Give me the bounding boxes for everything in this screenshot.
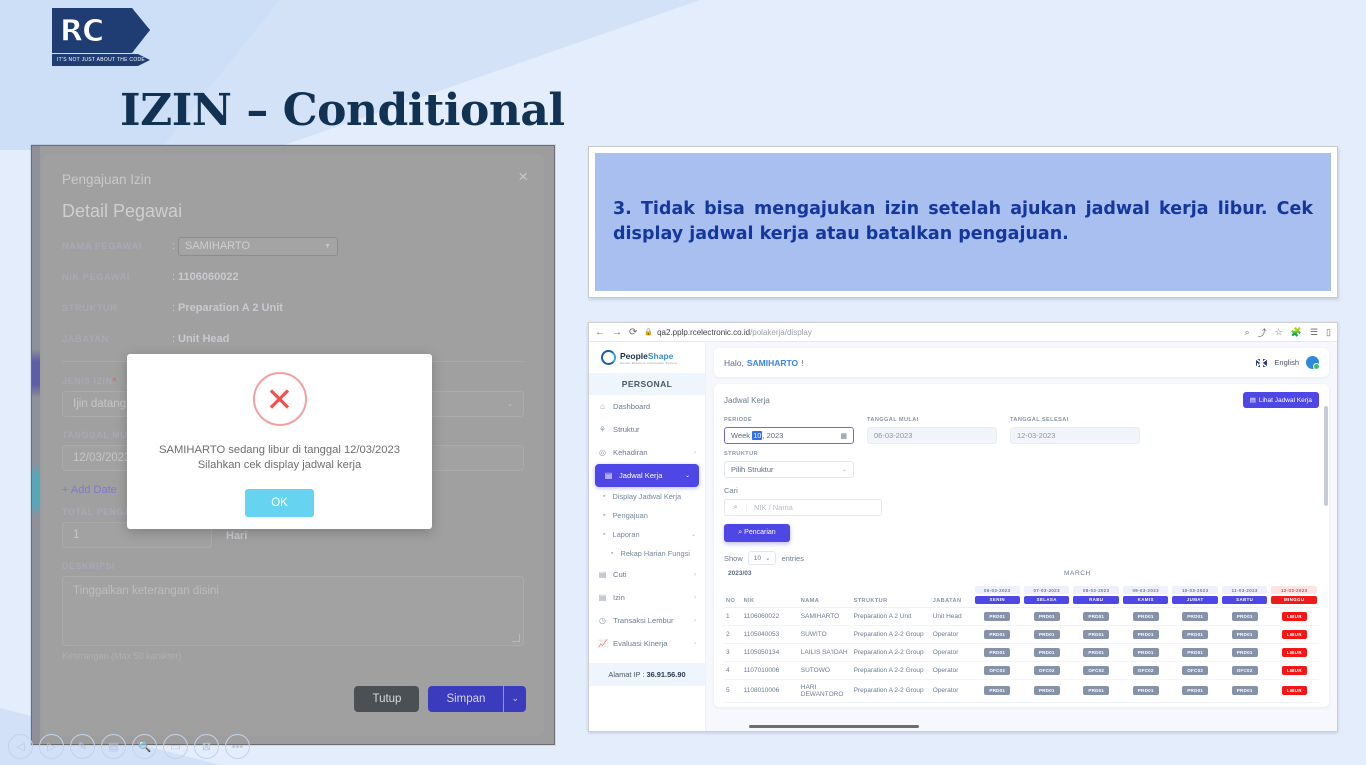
- cell-jabatan: Operator: [931, 643, 973, 661]
- chevron-right-icon: ›: [694, 618, 696, 624]
- cell-no: 3: [724, 643, 742, 661]
- col-nama: NAMA: [799, 583, 852, 607]
- cell-shift: LIBUR: [1269, 625, 1319, 643]
- extensions-puzzle-icon[interactable]: 🧩: [1291, 327, 1302, 338]
- card-title: Jadwal Kerja: [724, 396, 770, 405]
- lock-icon: 🔒: [644, 328, 653, 336]
- previous-slide-icon[interactable]: ◁: [8, 734, 33, 759]
- field-nama-pegawai: NAMA PEGAWAI : SAMIHARTO ▼: [62, 236, 524, 256]
- bullet-icon: ▪: [603, 493, 605, 500]
- chevron-right-icon: ›: [694, 572, 696, 578]
- day-date: 10-03-2023: [1172, 586, 1217, 594]
- address-bar[interactable]: 🔒 qa2.pplp.rcelectronic.co.id/polakerja/…: [644, 328, 1237, 337]
- shift-badge: PRD01: [984, 686, 1010, 695]
- cell-jabatan: Unit Head: [931, 607, 973, 625]
- cell-shift: OFC02: [1071, 661, 1120, 679]
- cell-shift: LIBUR: [1269, 661, 1319, 679]
- shift-badge: PRD01: [1133, 630, 1159, 639]
- nik-pegawai-value: 1106060022: [178, 271, 239, 283]
- shift-badge: PRD01: [984, 612, 1010, 621]
- table-row: 3 1105050134 LAILIS SA'IDAH Preparation …: [724, 643, 1319, 661]
- month-name-label: MARCH: [1064, 570, 1091, 577]
- search-icon[interactable]: ⌕: [1245, 327, 1250, 338]
- search-icon: ⌕: [738, 529, 742, 536]
- company-logo: RC IT'S NOT JUST ABOUT THE CODE: [52, 8, 162, 68]
- periode-value: Week 10, 2023: [731, 431, 783, 440]
- shift-badge-libur: LIBUR: [1282, 648, 1307, 657]
- cell-struktur: Preparation A 2-2 Group: [852, 661, 931, 679]
- app-viewport: PeopleShape Human Resource Information S…: [589, 342, 1337, 732]
- shift-badge: OFC02: [1133, 666, 1159, 675]
- shift-badge: PRD01: [1034, 630, 1060, 639]
- sidebar-item-label: Struktur: [613, 425, 640, 434]
- pencarian-button[interactable]: ⌕ Pencarian: [724, 524, 790, 542]
- cell-nama: SUWITO: [799, 625, 852, 643]
- shift-badge: PRD01: [1133, 612, 1159, 621]
- next-slide-icon[interactable]: ▷: [39, 734, 64, 759]
- lihat-jadwal-kerja-label: Lihat Jadwal Kerja: [1259, 397, 1312, 404]
- cell-nama: SAMIHARTO: [799, 607, 852, 625]
- sidebar-item-izin[interactable]: ▤ Izin ›: [589, 586, 705, 609]
- bullet-icon: ▪: [603, 531, 605, 538]
- shift-badge: OFC02: [1034, 666, 1060, 675]
- cell-no: 4: [724, 661, 742, 679]
- cell-struktur: Preparation A 2-2 Group: [852, 679, 931, 702]
- calendar-check-icon: ▤: [1250, 396, 1256, 404]
- cell-shift: PRD01: [1071, 679, 1120, 702]
- chevron-down-icon: ⌄: [765, 554, 770, 562]
- sidebar-item-kehadiran[interactable]: ◎ Kehadiran ›: [589, 441, 705, 464]
- year-month-label: 2023/03: [728, 570, 752, 577]
- page-title: IZIN – Conditional: [120, 85, 565, 136]
- cell-nama: SUTOWO: [799, 661, 852, 679]
- tanggal-selesai-group: TANGGAL SELESAI 12-03-2023: [1010, 417, 1140, 444]
- jadwal-kerja-card: Jadwal Kerja ▤ Lihat Jadwal Kerja PERIOD…: [714, 384, 1329, 707]
- cell-shift: PRD01: [1121, 643, 1170, 661]
- calendar-picker-icon[interactable]: ▦: [840, 432, 847, 440]
- shift-badge: PRD01: [1034, 648, 1060, 657]
- col-day-3: 09-03-2023 KAMIS: [1121, 583, 1170, 607]
- shift-badge: PRD01: [1083, 630, 1109, 639]
- cell-nik: 1106060022: [742, 607, 799, 625]
- cell-nik: 1107010006: [742, 661, 799, 679]
- sidebar-item-label: Jadwal Kerja: [619, 471, 662, 480]
- cell-shift: PRD01: [973, 679, 1022, 702]
- field-label: NIK PEGAWAI: [62, 272, 172, 283]
- shift-badge: PRD01: [1232, 630, 1258, 639]
- nama-pegawai-value: SAMIHARTO: [185, 240, 250, 252]
- cell-shift: PRD01: [1170, 679, 1219, 702]
- cell-jabatan: Operator: [931, 679, 973, 702]
- uk-flag-icon: [1256, 359, 1267, 367]
- sidebar-item-label: Laporan: [612, 530, 639, 539]
- url-host: qa2.pplp.rcelectronic.co.id: [657, 328, 750, 337]
- card-header: Jadwal Kerja ▤ Lihat Jadwal Kerja: [724, 392, 1319, 408]
- dialog-header: Pengajuan Izin ×: [42, 154, 544, 187]
- entries-value: 10: [754, 555, 761, 562]
- col-nik: NIK: [742, 583, 799, 607]
- jenis-izin-label-text: JENIS IZIN: [62, 376, 113, 386]
- chevron-down-icon[interactable]: ⌄: [503, 686, 526, 712]
- alert-message: SAMIHARTO sedang libur di tanggal 12/03/…: [144, 443, 416, 473]
- total-pengajuan-unit: Hari: [226, 530, 247, 542]
- sidebar-item-laporan[interactable]: ▪ Laporan ⌄: [589, 525, 705, 544]
- table-body: 1 1106060022 SAMIHARTO Preparation A 2 U…: [724, 607, 1319, 702]
- tanggal-mulai-group: TANGGAL MULAI 06-03-2023: [867, 417, 997, 444]
- back-icon[interactable]: ←: [595, 327, 605, 338]
- cell-shift: PRD01: [1170, 625, 1219, 643]
- cell-jabatan: Operator: [931, 661, 973, 679]
- cell-shift: OFC02: [1220, 661, 1269, 679]
- col-day-5: 11-03-2023 SABTU: [1220, 583, 1269, 607]
- language-label[interactable]: English: [1274, 358, 1299, 367]
- day-date: 08-03-2023: [1073, 586, 1118, 594]
- sidebar-item-label: Dashboard: [613, 402, 650, 411]
- app-logo-text-2: Shape: [648, 351, 674, 361]
- ip-separator: :: [642, 670, 644, 679]
- greeting-card: Halo, SAMIHARTO ! English: [714, 348, 1329, 377]
- deskripsi-hint: Keterangan (Max 50 karakter): [62, 651, 524, 661]
- cell-shift: PRD01: [1121, 679, 1170, 702]
- cell-shift: PRD01: [1071, 625, 1120, 643]
- alert-ok-button[interactable]: OK: [245, 489, 314, 517]
- tanggal-selesai-label: TANGGAL SELESAI: [1010, 417, 1140, 423]
- url-text: qa2.pplp.rcelectronic.co.id/polakerja/di…: [657, 328, 812, 337]
- entries-label: entries: [781, 554, 804, 563]
- cell-shift: PRD01: [1170, 607, 1219, 625]
- sidebar-item-pengajuan[interactable]: ▪ Pengajuan: [589, 506, 705, 525]
- tanggal-mulai-value: 06-03-2023: [874, 431, 912, 440]
- shift-badge: OFC02: [1182, 666, 1208, 675]
- day-name: SELASA: [1024, 596, 1069, 604]
- app-logo-text-1: People: [620, 351, 648, 361]
- home-icon: ⌂: [598, 402, 607, 411]
- callout-text: 3. Tidak bisa mengajukan izin setelah aj…: [613, 197, 1313, 247]
- background-app-sidebar-strip: [32, 146, 40, 744]
- share-icon[interactable]: ⤴: [1258, 326, 1267, 339]
- reading-list-icon[interactable]: ☰: [1310, 327, 1318, 338]
- day-date: 12-03-2023: [1271, 586, 1317, 594]
- table-header-row: NO NIK NAMA STRUKTUR JABATAN 06-03-2023 …: [724, 583, 1319, 607]
- cari-label: Cari: [724, 486, 1319, 495]
- peopleshape-mark-icon: [601, 350, 616, 365]
- greeting-row: Halo, SAMIHARTO ! English: [724, 356, 1319, 369]
- col-day-1: 07-03-2023 SELASA: [1022, 583, 1071, 607]
- cell-struktur: Preparation A 2-2 Group: [852, 643, 931, 661]
- col-no: NO: [724, 583, 742, 607]
- app-logo-text: PeopleShape Human Resource Information S…: [620, 351, 677, 365]
- sidebar-item-jadwal-kerja[interactable]: ▤ Jadwal Kerja ⌄: [595, 464, 699, 487]
- tutup-button[interactable]: Tutup: [354, 686, 419, 712]
- shift-badge: PRD01: [1232, 648, 1258, 657]
- cell-no: 1: [724, 607, 742, 625]
- cell-shift: LIBUR: [1269, 607, 1319, 625]
- cell-shift: PRD01: [1121, 607, 1170, 625]
- shift-badge: PRD01: [1232, 686, 1258, 695]
- cell-nik: 1108010006: [742, 679, 799, 702]
- periode-suffix: , 2023: [762, 431, 783, 440]
- logo-tagline: IT'S NOT JUST ABOUT THE CODE: [52, 54, 150, 66]
- chevron-down-icon: ⌄: [691, 531, 696, 538]
- chevron-right-icon: ›: [694, 450, 696, 456]
- sidebar-item-transaksi-lembur[interactable]: ◷ Transaksi Lembur ›: [589, 609, 705, 632]
- cell-nik: 1105050134: [742, 643, 799, 661]
- zoom-icon[interactable]: 🔍: [132, 734, 157, 759]
- horizontal-scrollbar[interactable]: [749, 725, 1334, 729]
- sidebar-item-label: Kehadiran: [613, 448, 648, 457]
- briefcase-icon: ▤: [604, 471, 613, 480]
- app-logo-subtitle: Human Resource Information System: [620, 361, 677, 365]
- cell-shift: PRD01: [1220, 625, 1269, 643]
- day-name: KAMIS: [1123, 596, 1168, 604]
- field-struktur: STRUKTUR : Preparation A 2 Unit: [62, 298, 524, 318]
- field-nik-pegawai: NIK PEGAWAI : 1106060022: [62, 267, 524, 287]
- shift-badge-libur: LIBUR: [1282, 630, 1307, 639]
- chevron-right-icon: ›: [694, 641, 696, 647]
- shift-badge: PRD01: [1083, 612, 1109, 621]
- cell-no: 2: [724, 625, 742, 643]
- shift-badge: PRD01: [1182, 686, 1208, 695]
- greeting-user: SAMIHARTO: [747, 358, 798, 368]
- shift-badge: PRD01: [1083, 686, 1109, 695]
- ip-value: 36.91.56.90: [647, 670, 686, 679]
- struktur-group: STRUKTUR Pilih Struktur ⌄: [724, 451, 854, 478]
- chevron-down-icon: ⌄: [685, 472, 690, 479]
- day-name: JUMAT: [1172, 596, 1217, 604]
- forward-icon[interactable]: →: [612, 327, 622, 338]
- sidebar-item-dashboard[interactable]: ⌂ Dashboard: [589, 395, 705, 418]
- shift-badge: PRD01: [1182, 630, 1208, 639]
- logo-shape: RC: [52, 8, 150, 53]
- entries-select[interactable]: 10 ⌄: [748, 551, 777, 565]
- cell-struktur: Preparation A 2-2 Group: [852, 625, 931, 643]
- pen-icon[interactable]: ✎: [70, 734, 95, 759]
- cell-shift: PRD01: [1071, 643, 1120, 661]
- jabatan-value: Unit Head: [178, 333, 229, 345]
- close-icon[interactable]: ×: [518, 168, 528, 185]
- subtitle-icon[interactable]: ▭: [163, 734, 188, 759]
- sidebar-item-struktur[interactable]: ⚘ Struktur: [589, 418, 705, 441]
- cari-placeholder: NIK / Nama: [747, 503, 793, 512]
- col-day-6: 12-03-2023 MINGGU: [1269, 583, 1319, 607]
- cari-input[interactable]: ⌕ NIK / Nama: [724, 499, 882, 516]
- chevron-down-icon: ▼: [324, 243, 331, 250]
- sidebar-item-evaluasi-kinerja[interactable]: 📈 Evaluasi Kinerja ›: [589, 632, 705, 655]
- dialog-footer: Tutup Simpan ⌄: [354, 686, 526, 712]
- bookmark-star-icon[interactable]: ☆: [1275, 327, 1283, 338]
- struktur-label: STRUKTUR: [724, 451, 854, 457]
- left-screenshot: Pengajuan Izin × Detail Pegawai NAMA PEG…: [31, 145, 555, 745]
- shift-badge-libur: LIBUR: [1282, 686, 1307, 695]
- day-date: 11-03-2023: [1222, 586, 1267, 594]
- calendar-icon: ▤: [598, 570, 607, 579]
- avatar[interactable]: [1306, 356, 1319, 369]
- search-icon: ⌕: [725, 504, 747, 512]
- shift-badge: OFC02: [1232, 666, 1258, 675]
- cell-shift: OFC02: [973, 661, 1022, 679]
- tanggal-selesai-input: 12-03-2023: [1010, 427, 1140, 444]
- sidebar-item-label: Cuti: [613, 570, 627, 579]
- cell-shift: LIBUR: [1269, 643, 1319, 661]
- shift-badge: PRD01: [1034, 612, 1060, 621]
- cell-shift: OFC02: [1121, 661, 1170, 679]
- table-head: NO NIK NAMA STRUKTUR JABATAN 06-03-2023 …: [724, 583, 1319, 607]
- sidebar-section-personal: PERSONAL: [589, 373, 705, 395]
- cell-shift: PRD01: [1170, 643, 1219, 661]
- table-row: 4 1107010006 SUTOWO Preparation A 2-2 Gr…: [724, 661, 1319, 679]
- table-row: 2 1105040053 SUWITO Preparation A 2-2 Gr…: [724, 625, 1319, 643]
- day-name: MINGGU: [1271, 596, 1317, 604]
- clock-icon: ◷: [598, 616, 607, 625]
- schedule-table: NO NIK NAMA STRUKTUR JABATAN 06-03-2023 …: [724, 583, 1319, 703]
- col-day-0: 06-03-2023 SENIN: [973, 583, 1022, 607]
- schedule-period-row: 2023/03 MARCH: [724, 570, 1319, 581]
- holiday-alert-dialog: ✕ SAMIHARTO sedang libur di tanggal 12/0…: [127, 354, 432, 529]
- cell-shift: PRD01: [1022, 625, 1071, 643]
- tanggal-selesai-value: 12-03-2023: [1017, 431, 1055, 440]
- logo-initials: RC: [60, 14, 132, 51]
- deskripsi-textarea[interactable]: Tinggalkan keterangan disini: [62, 576, 524, 646]
- table-row: 5 1108010006 HARI DEWANTORO Preparation …: [724, 679, 1319, 702]
- chevron-down-icon: ⌄: [842, 466, 847, 473]
- pencarian-label: Pencarian: [744, 529, 776, 536]
- day-date: 06-03-2023: [975, 586, 1020, 594]
- greeting-actions: English: [1256, 356, 1319, 369]
- field-label: NAMA PEGAWAI: [62, 241, 172, 252]
- cell-shift: PRD01: [1022, 643, 1071, 661]
- cell-shift: OFC02: [1022, 661, 1071, 679]
- reload-icon[interactable]: ⟳: [629, 327, 637, 338]
- cell-struktur: Preparation A 2 Unit: [852, 607, 931, 625]
- required-mark: *: [113, 376, 117, 386]
- sidebar-item-display-jadwal-kerja[interactable]: ▪ Display Jadwal Kerja: [589, 487, 705, 506]
- day-date: 09-03-2023: [1123, 586, 1168, 594]
- show-label: Show: [724, 554, 743, 563]
- periode-prefix: Week: [731, 431, 750, 440]
- presentation-toolbar: ◁ ▷ ✎ ▤ 🔍 ▭ ⊠ •••: [8, 734, 250, 759]
- more-options-icon[interactable]: •••: [225, 734, 250, 759]
- simpan-button-group: Simpan ⌄: [428, 686, 526, 712]
- shift-badge-libur: LIBUR: [1282, 666, 1307, 675]
- periode-week-input[interactable]: Week 10, 2023 ▦: [724, 427, 854, 444]
- shift-badge: PRD01: [1182, 648, 1208, 657]
- cell-shift: PRD01: [973, 625, 1022, 643]
- browser-toolbar: ← → ⟳ 🔒 qa2.pplp.rcelectronic.co.id/pola…: [589, 323, 1337, 342]
- url-path: /polakerja/display: [750, 328, 812, 337]
- col-struktur: STRUKTUR: [852, 583, 931, 607]
- periode-group: PERIODE Week 10, 2023 ▦: [724, 417, 854, 444]
- lihat-jadwal-kerja-button[interactable]: ▤ Lihat Jadwal Kerja: [1243, 392, 1319, 408]
- dialog-title: Pengajuan Izin: [62, 172, 524, 187]
- cell-shift: PRD01: [973, 643, 1022, 661]
- cell-shift: PRD01: [1220, 643, 1269, 661]
- browser-action-icons: ⌕ ⤴ ☆ 🧩 ☰ ▯: [1245, 326, 1331, 339]
- callout-inner: 3. Tidak bisa mengajukan izin setelah aj…: [595, 153, 1331, 291]
- cell-jabatan: Operator: [931, 625, 973, 643]
- shift-badge: OFC02: [1083, 666, 1109, 675]
- sidebar-item-label: Transaksi Lembur: [613, 616, 674, 625]
- ip-address-block: Alamat IP : 36.91.56.90: [589, 663, 705, 686]
- field-label: STRUKTUR: [62, 303, 172, 314]
- col-day-2: 08-03-2023 RABU: [1071, 583, 1120, 607]
- sidebar-item-rekap-harian-fungsi[interactable]: ▪ Rekap Harian Fungsi: [589, 544, 705, 563]
- tanggal-mulai-value: 12/03/2023: [73, 452, 131, 464]
- blank-screen-icon[interactable]: ⊠: [194, 734, 219, 759]
- cell-shift: PRD01: [1220, 607, 1269, 625]
- day-name: SENIN: [975, 596, 1020, 604]
- periode-week-number: 10: [752, 431, 762, 440]
- show-entries-row: Show 10 ⌄ entries: [724, 551, 1319, 565]
- col-jabatan: JABATAN: [931, 583, 973, 607]
- nama-pegawai-select[interactable]: SAMIHARTO ▼: [178, 237, 338, 256]
- slide-grid-icon[interactable]: ▤: [101, 734, 126, 759]
- chart-icon: 📈: [598, 639, 607, 648]
- shift-badge-libur: LIBUR: [1282, 612, 1307, 621]
- cell-shift: LIBUR: [1269, 679, 1319, 702]
- cell-no: 5: [724, 679, 742, 702]
- col-day-4: 10-03-2023 JUMAT: [1170, 583, 1219, 607]
- sidebar-item-label: Display Jadwal Kerja: [612, 492, 681, 501]
- tanggal-mulai-input: 06-03-2023: [867, 427, 997, 444]
- sidebar-item-label: Rekap Harian Fungsi: [620, 549, 689, 558]
- table-row: 1 1106060022 SAMIHARTO Preparation A 2 U…: [724, 607, 1319, 625]
- profile-panel-icon[interactable]: ▯: [1326, 327, 1331, 338]
- struktur-value: Pilih Struktur: [731, 465, 774, 474]
- shift-badge: PRD01: [1133, 648, 1159, 657]
- ip-label: Alamat IP: [608, 670, 640, 679]
- detail-pegawai-heading: Detail Pegawai: [62, 201, 524, 222]
- sitemap-icon: ⚘: [598, 425, 607, 434]
- bullet-icon: ▪: [603, 512, 605, 519]
- total-pengajuan-value: 1: [73, 529, 79, 541]
- sidebar-item-cuti[interactable]: ▤ Cuti ›: [589, 563, 705, 586]
- struktur-select[interactable]: Pilih Struktur ⌄: [724, 461, 854, 478]
- callout-box: 3. Tidak bisa mengajukan izin setelah aj…: [588, 146, 1338, 298]
- greeting-prefix: Halo,: [724, 358, 744, 368]
- cell-shift: OFC02: [1170, 661, 1219, 679]
- chevron-down-icon: ⌄: [507, 400, 513, 408]
- shift-badge: PRD01: [984, 630, 1010, 639]
- chevron-right-icon: ›: [694, 595, 696, 601]
- cell-shift: PRD01: [1022, 679, 1071, 702]
- sidebar-item-label: Evaluasi Kinerja: [613, 639, 667, 648]
- cell-shift: PRD01: [1220, 679, 1269, 702]
- shift-badge: PRD01: [984, 648, 1010, 657]
- fingerprint-icon: ◎: [598, 448, 607, 457]
- greeting-suffix: !: [801, 358, 803, 368]
- cell-shift: PRD01: [1121, 625, 1170, 643]
- browser-screenshot: ← → ⟳ 🔒 qa2.pplp.rcelectronic.co.id/pola…: [588, 322, 1338, 732]
- sidebar-item-label: Pengajuan: [612, 511, 647, 520]
- shift-badge: PRD01: [1034, 686, 1060, 695]
- field-jabatan: JABATAN : Unit Head: [62, 329, 524, 349]
- day-date: 07-03-2023: [1024, 586, 1069, 594]
- cell-shift: PRD01: [973, 607, 1022, 625]
- periode-label: PERIODE: [724, 417, 854, 423]
- tanggal-mulai-label: TANGGAL MULAI: [867, 417, 997, 423]
- bullet-icon: ▪: [611, 550, 613, 557]
- app-logo: PeopleShape Human Resource Information S…: [589, 342, 705, 373]
- cell-nama: HARI DEWANTORO: [799, 679, 852, 702]
- simpan-button[interactable]: Simpan: [428, 686, 503, 712]
- cell-shift: PRD01: [1071, 607, 1120, 625]
- sidebar-item-label: Izin: [613, 593, 625, 602]
- app-sidebar: PeopleShape Human Resource Information S…: [589, 342, 706, 732]
- deskripsi-label: DESKRIPSI: [62, 561, 524, 571]
- shift-badge: PRD01: [1182, 612, 1208, 621]
- calendar-icon: ▤: [598, 593, 607, 602]
- vertical-scrollbar[interactable]: [1324, 406, 1328, 506]
